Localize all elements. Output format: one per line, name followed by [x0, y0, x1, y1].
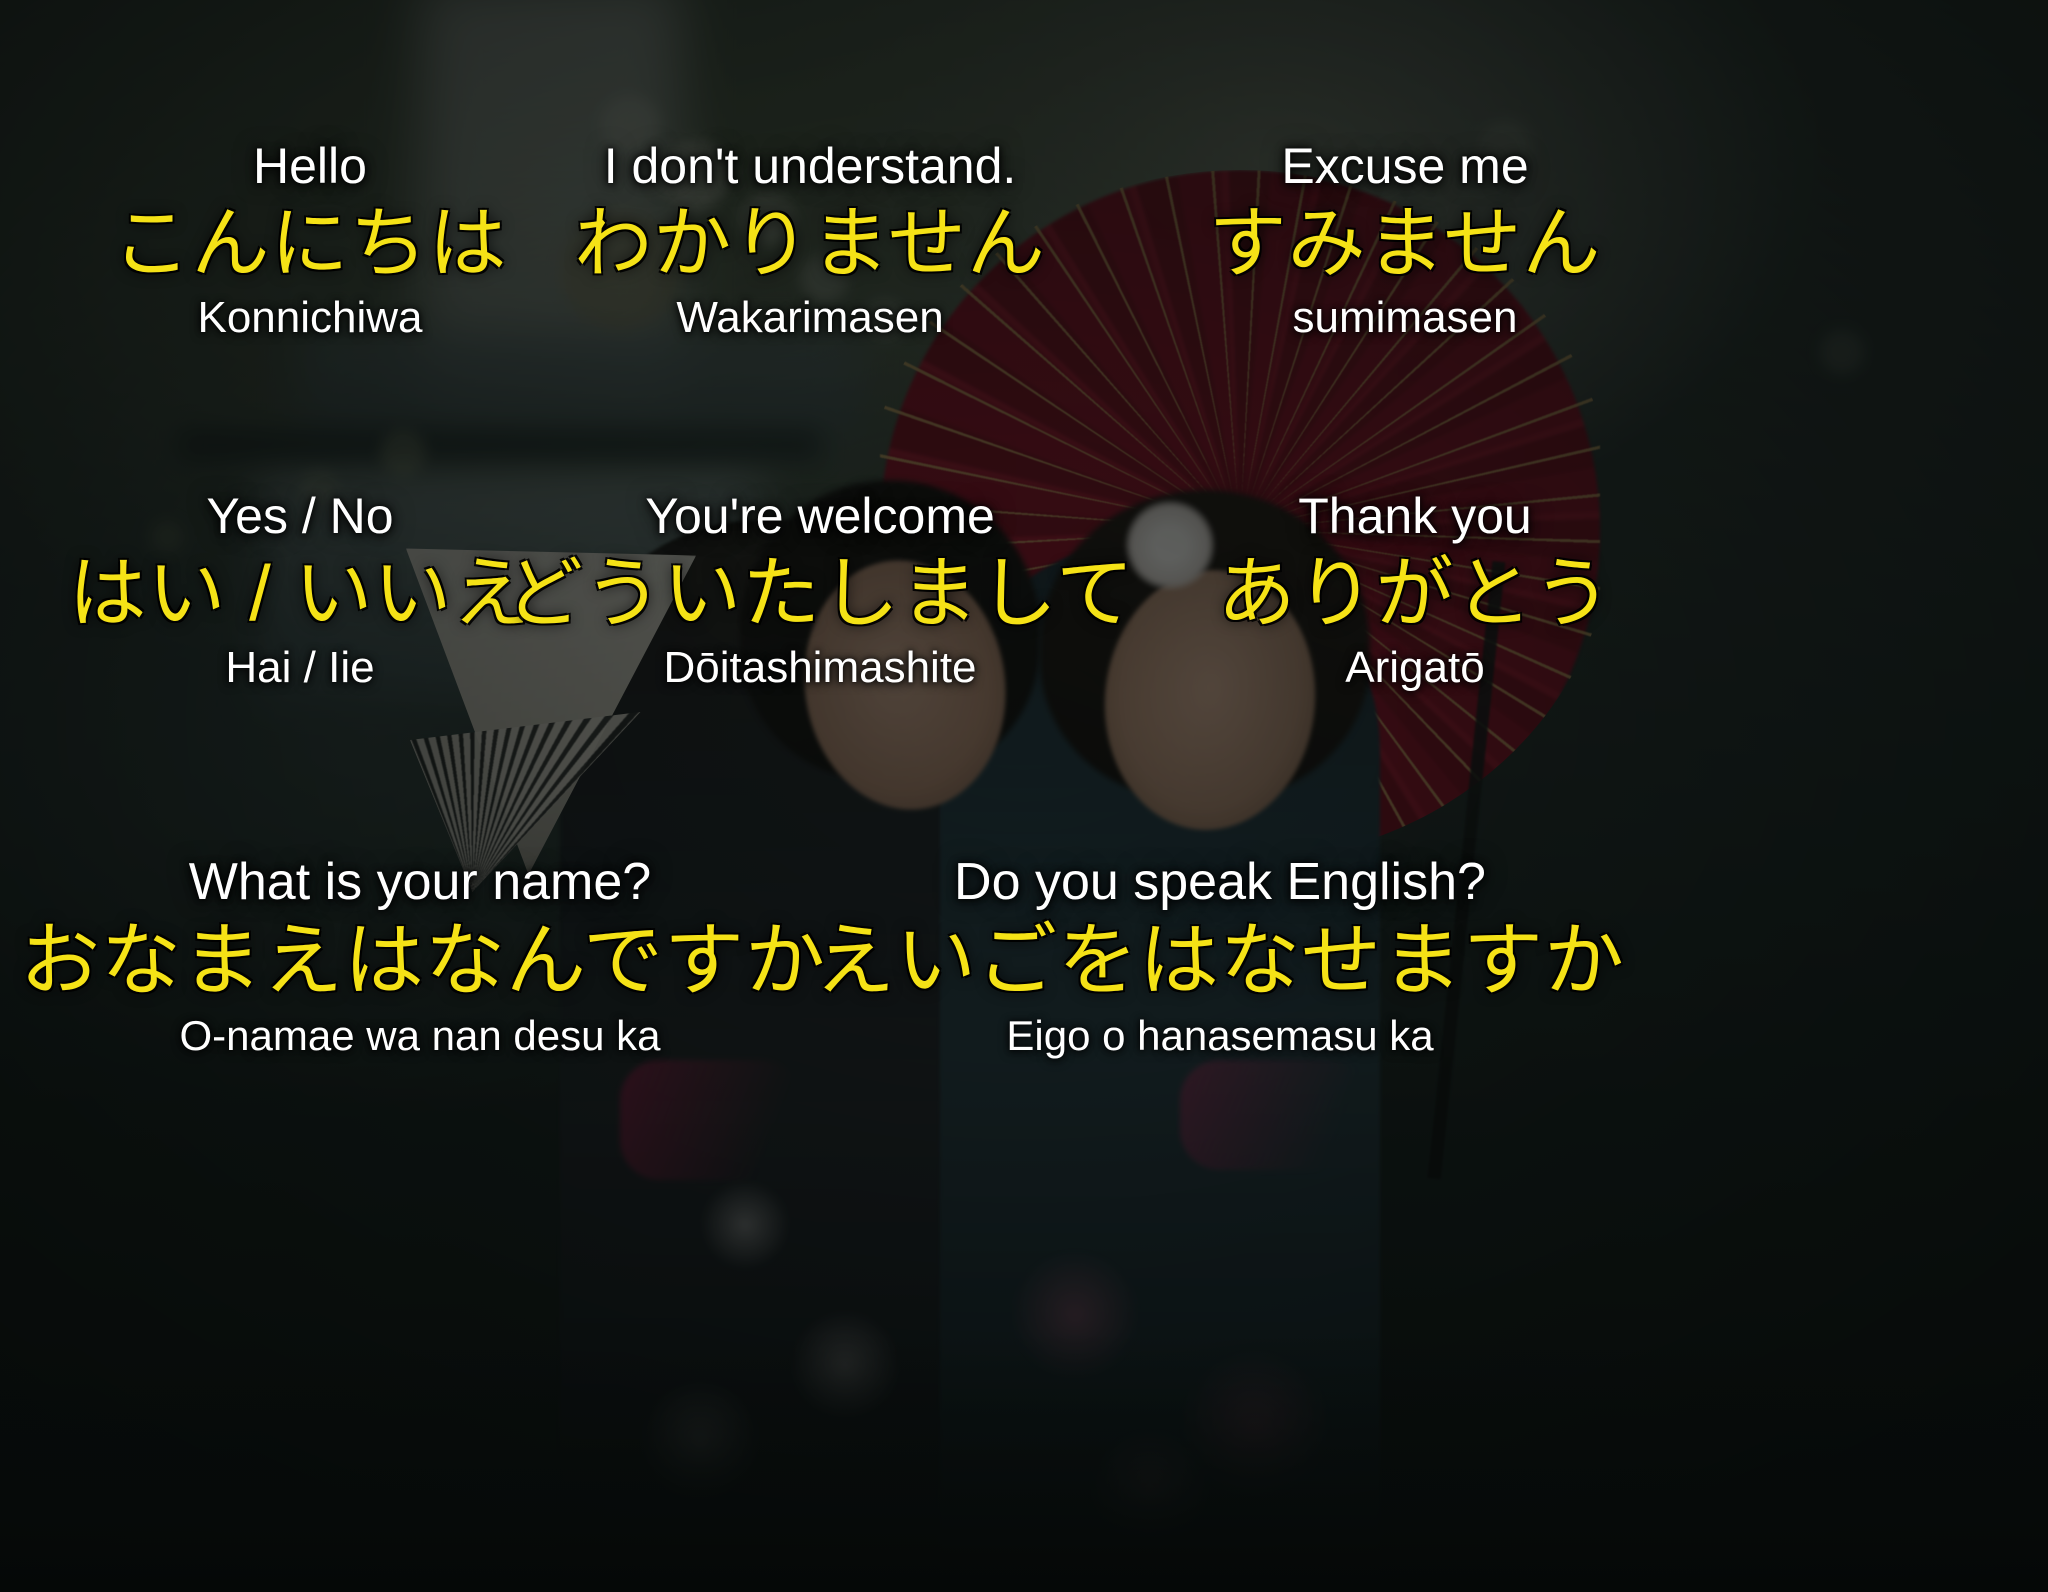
phrase-english: Thank you: [1135, 490, 1695, 543]
phrase-romaji: Dōitashimashite: [490, 645, 1150, 691]
phrase-romaji: Eigo o hanasemasu ka: [800, 1014, 1640, 1058]
phrase-english: Hello: [60, 140, 560, 193]
phrase-card-hello: Hello こんにちは Konnichiwa: [60, 140, 560, 341]
phrase-english: Do you speak English?: [800, 855, 1640, 910]
phrase-english: I don't understand.: [505, 140, 1115, 193]
phrase-romaji: Konnichiwa: [60, 295, 560, 341]
phrase-overlay: Hello こんにちは Konnichiwa I don't understan…: [0, 0, 2048, 1592]
phrase-japanese: えいごをはなせますか: [800, 914, 1640, 1008]
infographic-canvas: Hello こんにちは Konnichiwa I don't understan…: [0, 0, 2048, 1592]
phrase-romaji: O-namae wa nan desu ka: [20, 1014, 820, 1058]
phrase-english: What is your name?: [20, 855, 820, 910]
phrase-japanese: どういたしまして: [490, 547, 1150, 639]
phrase-japanese: こんにちは: [60, 197, 560, 289]
phrase-card-thank-you: Thank you ありがとう Arigatō: [1135, 490, 1695, 691]
phrase-japanese: おなまえはなんですか: [20, 914, 820, 1008]
phrase-card-i-dont-understand: I don't understand. わかりません Wakarimasen: [505, 140, 1115, 341]
phrase-card-youre-welcome: You're welcome どういたしまして Dōitashimashite: [490, 490, 1150, 691]
phrase-card-do-you-speak-english: Do you speak English? えいごをはなせますか Eigo o …: [800, 855, 1640, 1058]
phrase-japanese: わかりません: [505, 197, 1115, 289]
phrase-japanese: すみません: [1125, 197, 1685, 289]
phrase-japanese: ありがとう: [1135, 547, 1695, 639]
phrase-japanese: はい / いいえ: [30, 547, 570, 639]
phrase-romaji: Hai / Iie: [30, 645, 570, 691]
phrase-romaji: sumimasen: [1125, 295, 1685, 341]
phrase-english: You're welcome: [490, 490, 1150, 543]
phrase-card-what-is-your-name: What is your name? おなまえはなんですか O-namae wa…: [20, 855, 820, 1058]
phrase-english: Excuse me: [1125, 140, 1685, 193]
phrase-card-yes-no: Yes / No はい / いいえ Hai / Iie: [30, 490, 570, 691]
phrase-english: Yes / No: [30, 490, 570, 543]
phrase-romaji: Arigatō: [1135, 645, 1695, 691]
phrase-card-excuse-me: Excuse me すみません sumimasen: [1125, 140, 1685, 341]
phrase-romaji: Wakarimasen: [505, 295, 1115, 341]
